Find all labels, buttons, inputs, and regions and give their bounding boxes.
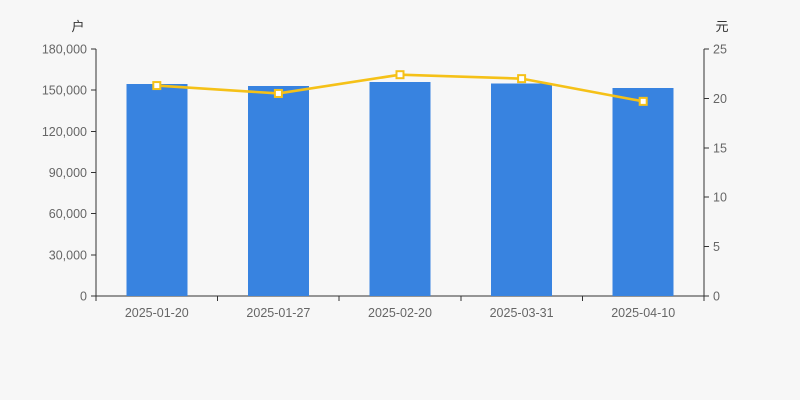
right-axis-tick-label: 5	[713, 240, 720, 254]
right-axis-unit-label: 元	[715, 19, 728, 34]
right-axis-tick-label: 15	[713, 141, 727, 155]
x-axis-category-label: 2025-01-20	[125, 306, 189, 320]
left-axis-tick-label: 0	[80, 290, 87, 304]
line-marker	[275, 90, 282, 97]
right-axis-tick-label: 0	[713, 290, 720, 304]
left-axis-tick-label: 120,000	[42, 125, 87, 139]
bar-item	[126, 84, 187, 296]
line-marker	[640, 98, 647, 105]
left-axis-unit-label: 户	[71, 19, 84, 34]
right-axis-tick-label: 25	[713, 43, 727, 57]
left-axis-tick-label: 90,000	[49, 166, 87, 180]
x-axis-category-label: 2025-04-10	[611, 306, 675, 320]
bar-item	[613, 88, 674, 296]
left-axis-tick-label: 150,000	[42, 84, 87, 98]
x-axis-category-label: 2025-01-27	[246, 306, 310, 320]
line-marker	[518, 75, 525, 82]
line-marker	[153, 82, 160, 89]
bar-item	[370, 82, 431, 296]
left-axis-tick-label: 30,000	[49, 248, 87, 262]
left-axis-tick-label: 60,000	[49, 207, 87, 221]
bar-item	[491, 83, 552, 296]
x-axis-category-label: 2025-03-31	[490, 306, 554, 320]
bar-item	[248, 86, 309, 296]
chart-container: 030,00060,00090,000120,000150,000180,000…	[0, 0, 800, 400]
right-axis-tick-label: 20	[713, 92, 727, 106]
bar-line-combo-chart: 030,00060,00090,000120,000150,000180,000…	[0, 0, 800, 400]
x-axis-category-label: 2025-02-20	[368, 306, 432, 320]
line-marker	[397, 71, 404, 78]
left-axis-tick-label: 180,000	[42, 43, 87, 57]
right-axis-tick-label: 10	[713, 191, 727, 205]
